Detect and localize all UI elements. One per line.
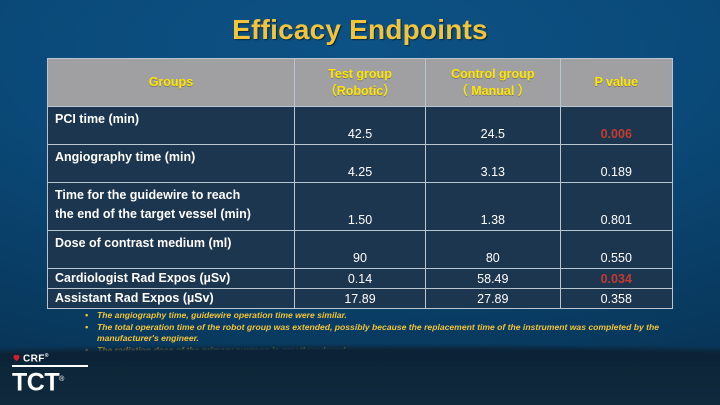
cell-p-value: 0.358 — [560, 289, 673, 309]
cell-test-value: 1.50 — [294, 183, 425, 231]
cell-test-value: 17.89 — [294, 289, 425, 309]
cell-control-value: 80 — [426, 231, 560, 269]
table-row: Dose of contrast medium (ml) 90 80 0.550 — [48, 231, 673, 269]
bullet-dot-icon: • — [85, 310, 88, 322]
table-header-row: Groups Test group （Robotic） Control grou… — [48, 59, 673, 107]
table-row: Time for the guidewire to reach the end … — [48, 183, 673, 231]
table-row: Angiography time (min) 4.25 3.13 0.189 — [48, 145, 673, 183]
row-label: Cardiologist Rad Expos (µSv) — [48, 269, 295, 289]
row-label-line1: PCI time (min) — [55, 112, 139, 126]
column-header-test-group-sublabel: （Robotic） — [295, 83, 425, 100]
cell-control-value: 1.38 — [426, 183, 560, 231]
table-row: Assistant Rad Expos (µSv) 17.89 27.89 0.… — [48, 289, 673, 309]
column-header-test-group: Test group （Robotic） — [294, 59, 425, 107]
cell-p-value: 0.006 — [560, 107, 673, 145]
efficacy-endpoints-table-wrapper: Groups Test group （Robotic） Control grou… — [47, 58, 673, 309]
row-label-line1: Assistant Rad Expos (µSv) — [55, 291, 214, 305]
crf-logo-line: CRF® — [12, 351, 88, 364]
table-row: PCI time (min) 42.5 24.5 0.006 — [48, 107, 673, 145]
column-header-p-value: P value — [560, 59, 673, 107]
crf-registered-mark: ® — [45, 353, 49, 359]
row-label-line1: Cardiologist Rad Expos (µSv) — [55, 271, 230, 285]
row-label-line1: Dose of contrast medium (ml) — [55, 236, 231, 250]
column-header-control-group-label: Control group — [451, 67, 534, 81]
row-label: Time for the guidewire to reach the end … — [48, 183, 295, 231]
table-row: Cardiologist Rad Expos (µSv) 0.14 58.49 … — [48, 269, 673, 289]
footer-band — [0, 353, 720, 405]
cell-control-value: 24.5 — [426, 107, 560, 145]
row-label: Assistant Rad Expos (µSv) — [48, 289, 295, 309]
crf-wordmark: CRF® — [23, 351, 49, 364]
bullet-dot-icon: • — [85, 322, 88, 334]
efficacy-endpoints-table: Groups Test group （Robotic） Control grou… — [47, 58, 673, 309]
heart-icon — [12, 353, 21, 362]
row-label: Dose of contrast medium (ml) — [48, 231, 295, 269]
column-header-test-group-label: Test group — [328, 67, 392, 81]
cell-p-value: 0.189 — [560, 145, 673, 183]
row-label: PCI time (min) — [48, 107, 295, 145]
column-header-control-group: Control group （ Manual ） — [426, 59, 560, 107]
cell-test-value: 4.25 — [294, 145, 425, 183]
crf-text: CRF — [23, 353, 45, 364]
cell-control-value: 27.89 — [426, 289, 560, 309]
cell-p-value: 0.034 — [560, 269, 673, 289]
cell-test-value: 90 — [294, 231, 425, 269]
tct-crf-logo: CRF® TCT® — [12, 351, 88, 395]
column-header-groups: Groups — [48, 59, 295, 107]
tct-wordmark: TCT® — [12, 367, 88, 395]
cell-control-value: 3.13 — [426, 145, 560, 183]
column-header-p-value-label: P value — [594, 75, 638, 89]
cell-test-value: 0.14 — [294, 269, 425, 289]
row-label-line1: Time for the guidewire to reach — [55, 188, 240, 202]
page-title: Efficacy Endpoints — [0, 14, 720, 46]
tct-registered-mark: ® — [59, 376, 64, 383]
column-header-groups-label: Groups — [149, 75, 193, 89]
list-item: • The angiography time, guidewire operat… — [83, 310, 668, 322]
list-item-text: The angiography time, guidewire operatio… — [97, 310, 347, 320]
slide-canvas: Efficacy Endpoints Groups Test group （Ro… — [0, 0, 720, 405]
row-label-line1: Angiography time (min) — [55, 150, 195, 164]
cell-control-value: 58.49 — [426, 269, 560, 289]
column-header-control-group-sublabel: （ Manual ） — [426, 83, 559, 100]
cell-p-value: 0.801 — [560, 183, 673, 231]
cell-p-value: 0.550 — [560, 231, 673, 269]
tct-text: TCT — [12, 368, 59, 396]
row-label-line2: the end of the target vessel (min) — [55, 207, 251, 221]
cell-test-value: 42.5 — [294, 107, 425, 145]
row-label: Angiography time (min) — [48, 145, 295, 183]
